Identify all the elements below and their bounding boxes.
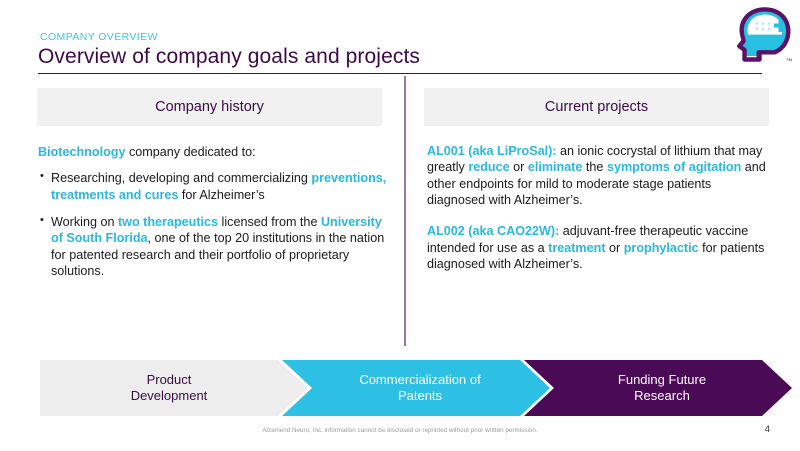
process-step-funding-future-research[interactable]: Funding Future Research xyxy=(524,360,792,416)
panel-heading-company-history: Company history xyxy=(37,88,382,126)
panel-heading-label: Current projects xyxy=(545,99,648,115)
body-text: or xyxy=(510,160,528,174)
process-step-product-development[interactable]: Product Development xyxy=(40,360,308,416)
highlighted-text: reduce xyxy=(468,160,509,174)
alzamend-neuro-head-logo-icon: TM xyxy=(736,4,794,64)
body-text: Working on xyxy=(51,215,118,229)
process-step-label: Product Development xyxy=(123,372,226,405)
page-title: Overview of company goals and projects xyxy=(38,45,420,69)
body-text: Researching, developing and commercializ… xyxy=(51,171,311,185)
process-step-line2: Patents xyxy=(398,388,442,403)
body-text: licensed from the xyxy=(218,215,321,229)
highlighted-text: prophylactic xyxy=(624,241,699,255)
body-text: the xyxy=(582,160,607,174)
process-chevron-bar: Product Development Commercialization of… xyxy=(40,360,760,416)
highlighted-text: AL002 (aka CAO22W): xyxy=(427,224,559,238)
lead-rest: company dedicated to: xyxy=(125,145,255,159)
highlighted-text: symptoms of agitation xyxy=(607,160,741,174)
slide-canvas: COMPANY OVERVIEW Overview of company goa… xyxy=(0,0,800,451)
process-step-line1: Commercialization of xyxy=(359,372,480,387)
company-history-lead: Biotechnology company dedicated to: xyxy=(38,144,388,160)
process-step-label: Commercialization of Patents xyxy=(333,372,498,405)
project-paragraph-al002: AL002 (aka CAO22W): adjuvant-free therap… xyxy=(427,223,772,272)
body-text: or xyxy=(606,241,624,255)
title-divider-rule xyxy=(38,73,762,74)
company-history-content: Biotechnology company dedicated to: Rese… xyxy=(38,144,388,291)
panel-heading-current-projects: Current projects xyxy=(424,88,769,126)
highlighted-text: treatment xyxy=(548,241,605,255)
process-step-label: Funding Future Research xyxy=(592,372,724,405)
lead-highlight: Biotechnology xyxy=(38,145,125,159)
page-number: 4 xyxy=(765,424,770,435)
process-step-line2: Development xyxy=(131,388,208,403)
company-history-bullet-list: Researching, developing and commercializ… xyxy=(38,170,388,279)
list-item: Researching, developing and commercializ… xyxy=(38,170,388,203)
highlighted-text: AL001 (aka LiProSal): xyxy=(427,144,556,158)
logo-trademark: TM xyxy=(786,57,792,62)
process-step-commercialization-of-patents[interactable]: Commercialization of Patents xyxy=(282,360,550,416)
project-paragraph-al001: AL001 (aka LiProSal): an ionic cocrystal… xyxy=(427,143,772,208)
list-item: Working on two therapeutics licensed fro… xyxy=(38,214,388,279)
process-step-line2: Research xyxy=(634,388,690,403)
current-projects-content: AL001 (aka LiProSal): an ionic cocrystal… xyxy=(427,143,772,273)
process-step-line1: Funding Future xyxy=(618,372,706,387)
footer-disclaimer: Alzamend Neuro, Inc. information cannot … xyxy=(0,427,800,434)
panel-heading-label: Company history xyxy=(155,99,264,115)
process-step-line1: Product xyxy=(147,372,192,387)
column-divider xyxy=(404,76,406,346)
body-text: for Alzheimer’s xyxy=(178,188,264,202)
highlighted-text: eliminate xyxy=(528,160,583,174)
highlighted-text: two therapeutics xyxy=(118,215,218,229)
slide-eyebrow: COMPANY OVERVIEW xyxy=(40,31,158,43)
